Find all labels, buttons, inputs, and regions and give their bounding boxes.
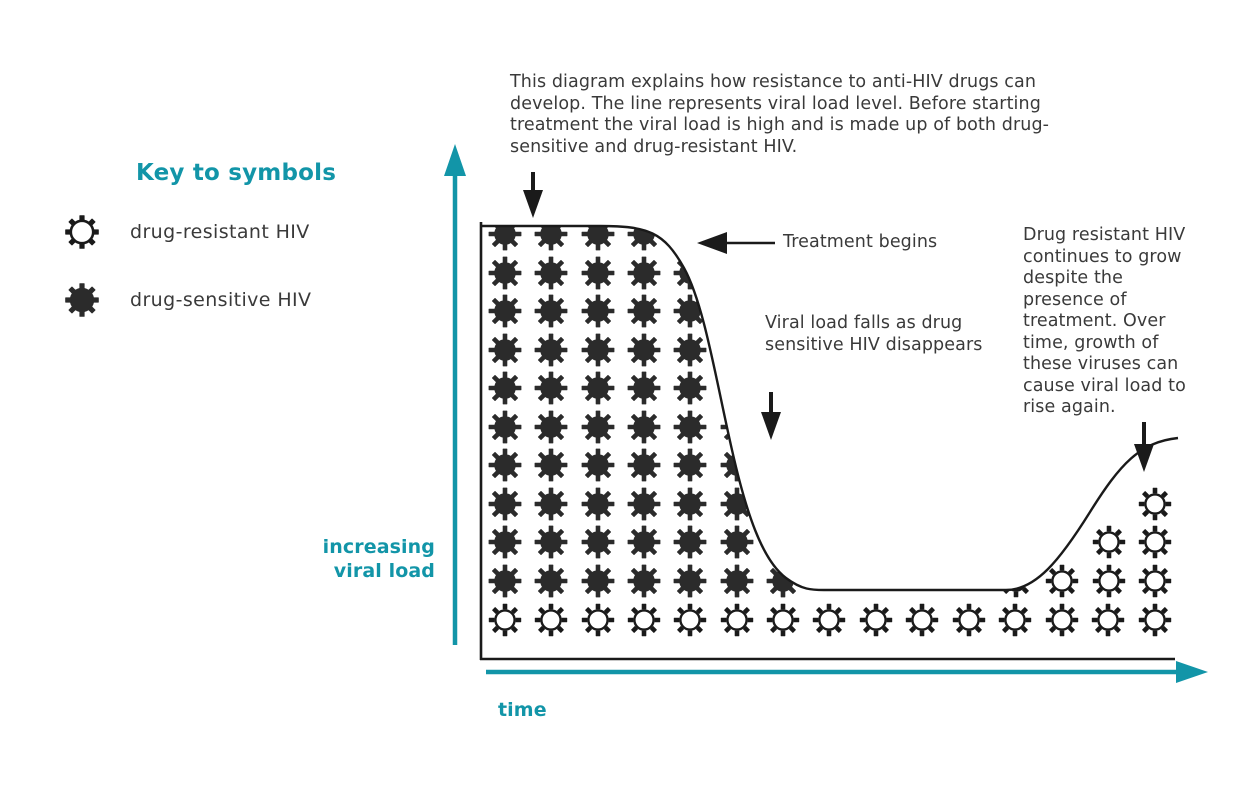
plot-axes	[480, 222, 1175, 660]
viral-load-plot	[0, 0, 1256, 800]
drug-resistant-rising-population	[1000, 488, 1171, 597]
virus-population	[489, 218, 1172, 598]
drug-sensitive-population	[489, 218, 800, 598]
arrow-viral-load-falls	[761, 392, 781, 440]
x-axis-arrow	[486, 661, 1208, 683]
arrow-intro-to-plateau	[523, 172, 543, 218]
y-axis-arrow	[444, 144, 466, 645]
viral-load-curve	[482, 226, 1178, 590]
arrow-resistance-grows	[1134, 422, 1154, 472]
drug-resistant-baseline-row	[489, 604, 1171, 636]
diagram-canvas: Key to symbols drug	[0, 0, 1256, 800]
arrow-treatment-begins	[697, 232, 775, 254]
